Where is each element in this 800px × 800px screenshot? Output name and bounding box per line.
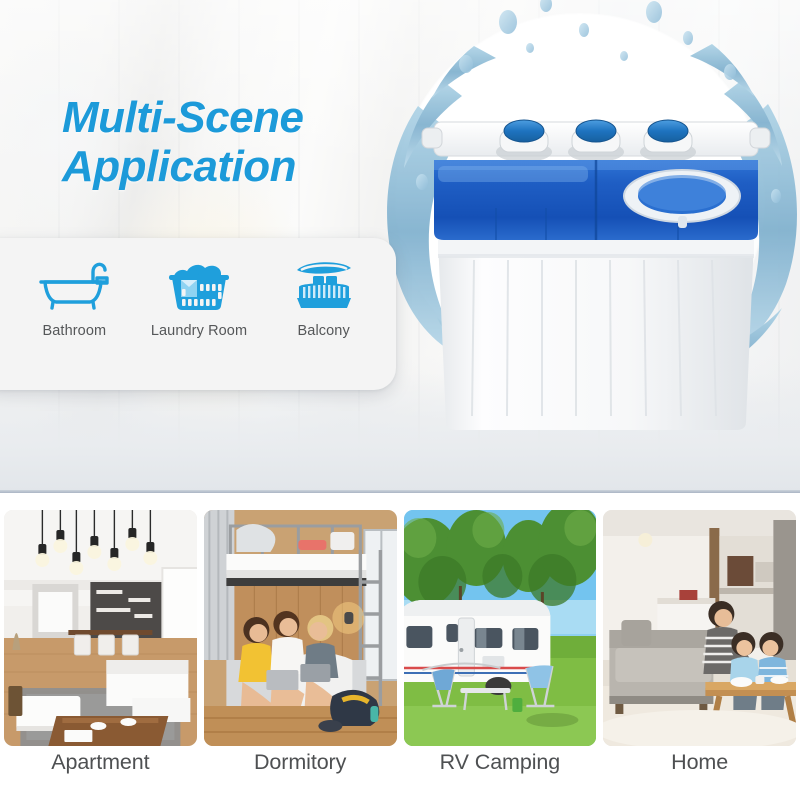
scene-label: Laundry Room (151, 323, 247, 340)
hero-divider (0, 490, 800, 493)
photo-card-home[interactable] (603, 510, 796, 746)
caption-rv-camping: RV Camping (404, 750, 597, 775)
bathtub-icon (35, 256, 113, 314)
scene-item-balcony[interactable]: Balcony (261, 256, 386, 340)
scene-label: Balcony (298, 323, 350, 340)
product-stage (378, 0, 800, 456)
caption-dormitory: Dormitory (204, 750, 397, 775)
apartment-living-room-photo (4, 510, 197, 746)
photo-captions: Apartment Dormitory RV Camping Home (0, 750, 800, 775)
hero-banner: Multi-Scene Application (0, 0, 800, 493)
scene-label: Bathroom (43, 323, 107, 340)
home-family-living-room-photo (603, 510, 796, 746)
washing-machine-icon (416, 104, 776, 434)
page-title: Multi-Scene Application (62, 93, 303, 191)
balcony-icon (285, 256, 363, 314)
rv-camping-caravan-photo (404, 510, 597, 746)
scene-card: Bathroom (0, 238, 396, 390)
photo-card-rv-camping[interactable] (404, 510, 597, 746)
scene-item-laundry-room[interactable]: Laundry Room (137, 256, 262, 340)
caption-apartment: Apartment (4, 750, 197, 775)
photo-card-apartment[interactable] (4, 510, 197, 746)
dormitory-bunk-bed-photo (204, 510, 397, 746)
photo-card-dormitory[interactable] (204, 510, 397, 746)
laundry-basket-icon (160, 256, 238, 314)
scene-photo-strip (0, 510, 800, 746)
scene-item-bathroom[interactable]: Bathroom (12, 256, 137, 340)
caption-home: Home (603, 750, 796, 775)
